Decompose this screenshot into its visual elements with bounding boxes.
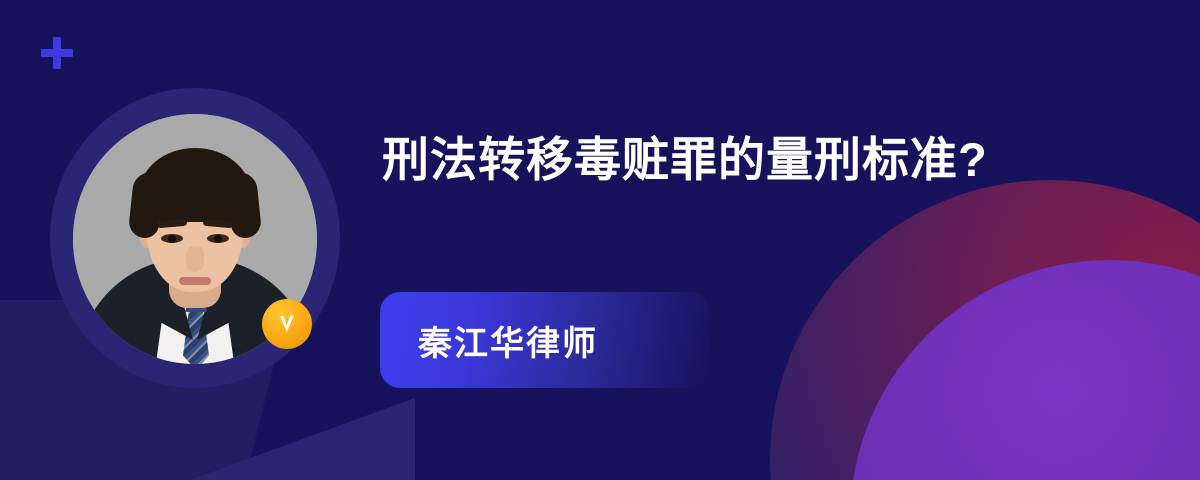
decor-circle-magenta bbox=[770, 180, 1200, 480]
lawyer-question-banner: 刑法转移毒赃罪的量刑标准? 秦江华律师 bbox=[0, 0, 1200, 480]
lawyer-name-badge[interactable]: 秦江华律师 bbox=[380, 292, 710, 388]
plus-icon bbox=[40, 36, 74, 70]
decor-circle-purple bbox=[850, 260, 1200, 480]
page-title: 刑法转移毒赃罪的量刑标准? bbox=[382, 126, 1072, 194]
decor-triangle-center bbox=[185, 398, 415, 480]
lawyer-name-label: 秦江华律师 bbox=[418, 316, 598, 365]
verified-badge-icon bbox=[262, 299, 312, 349]
